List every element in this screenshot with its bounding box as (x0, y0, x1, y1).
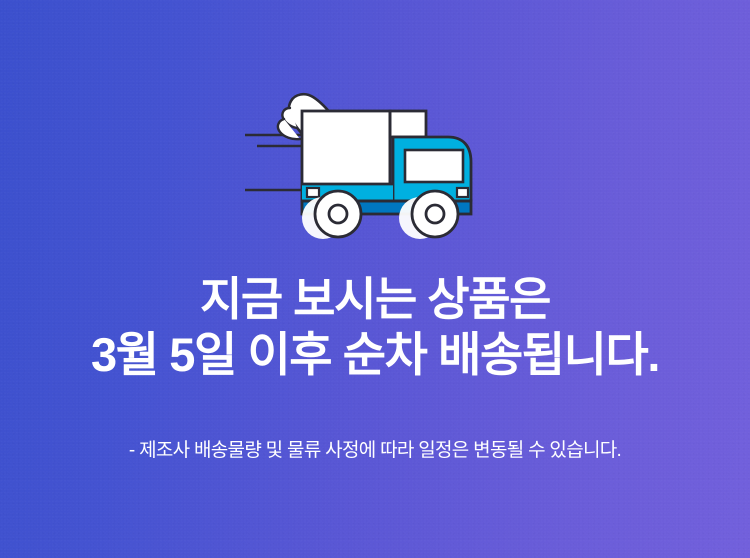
headline-line-2: 3월 5일 이후 순차 배송됩니다. (0, 327, 750, 382)
delivery-notice-banner: 지금 보시는 상품은 3월 5일 이후 순차 배송됩니다. - 제조사 배송물량… (0, 0, 750, 558)
headline-line-1: 지금 보시는 상품은 (0, 272, 750, 327)
winged-delivery-truck-icon (245, 78, 505, 243)
illustration-container (0, 78, 750, 248)
headline-block: 지금 보시는 상품은 3월 5일 이후 순차 배송됩니다. (0, 272, 750, 382)
note-block: - 제조사 배송물량 및 물류 사정에 따라 일정은 변동될 수 있습니다. (0, 438, 750, 464)
motion-lines-icon (245, 135, 301, 190)
delivery-disclaimer-note: - 제조사 배송물량 및 물류 사정에 따라 일정은 변동될 수 있습니다. (0, 438, 750, 464)
